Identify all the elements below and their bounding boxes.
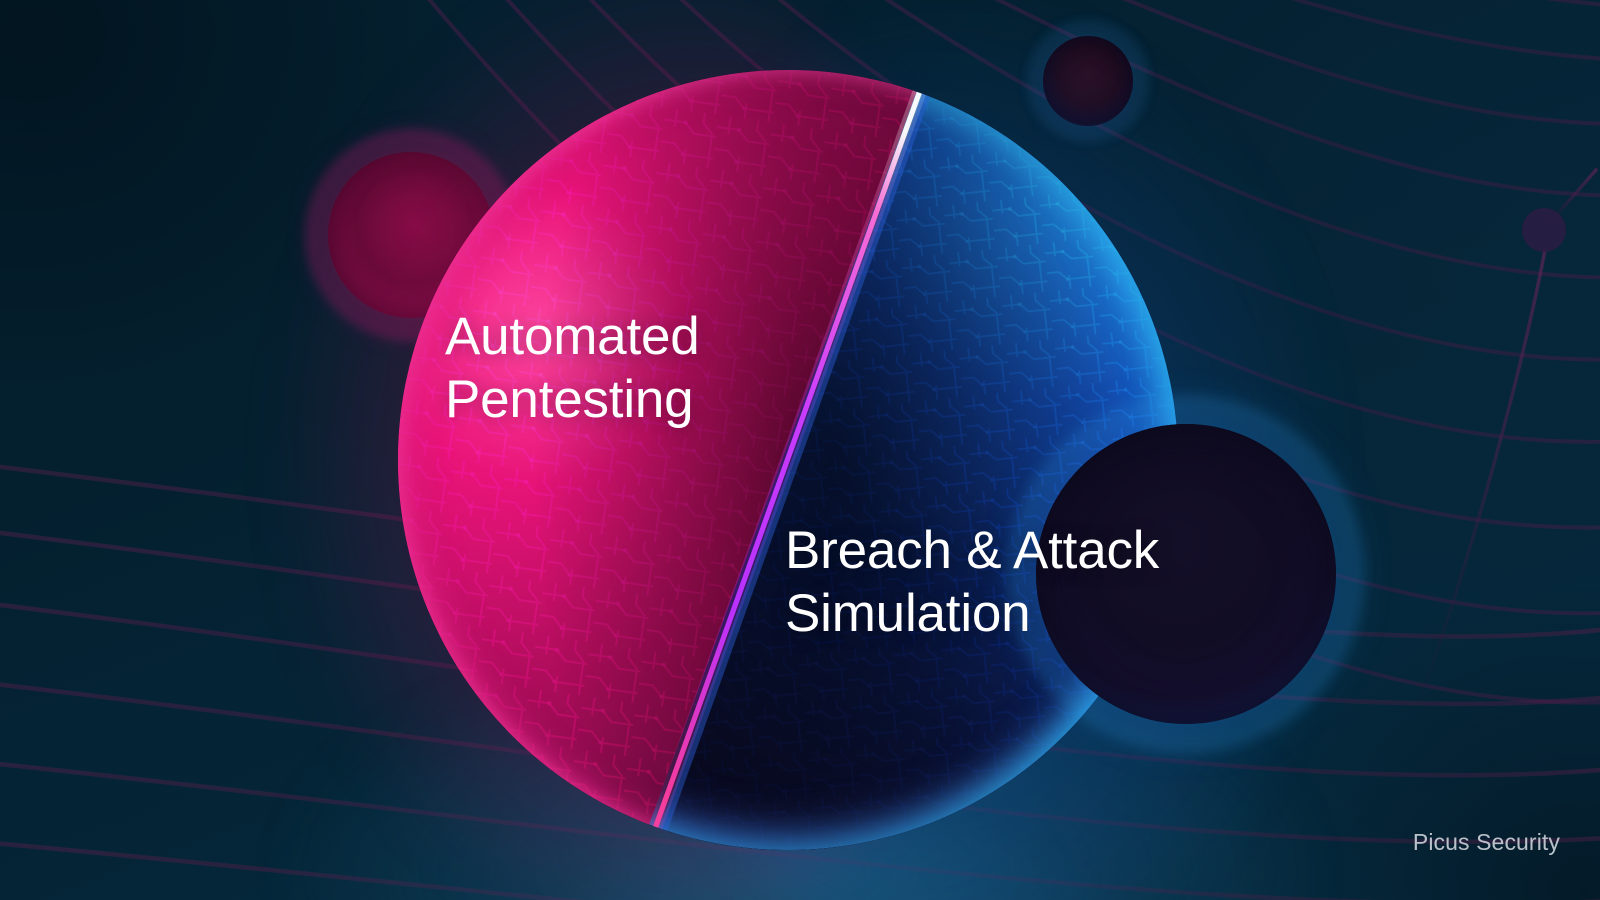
brand-watermark: Picus Security [1413, 829, 1560, 856]
label-breach-and-attack-simulation: Breach & Attack Simulation [785, 520, 1159, 645]
label-automated-pentesting: Automated Pentesting [445, 306, 700, 431]
hero-graphic-canvas: Automated Pentesting Breach & Attack Sim… [0, 0, 1600, 900]
circuit-node-dot-icon [1522, 208, 1566, 252]
